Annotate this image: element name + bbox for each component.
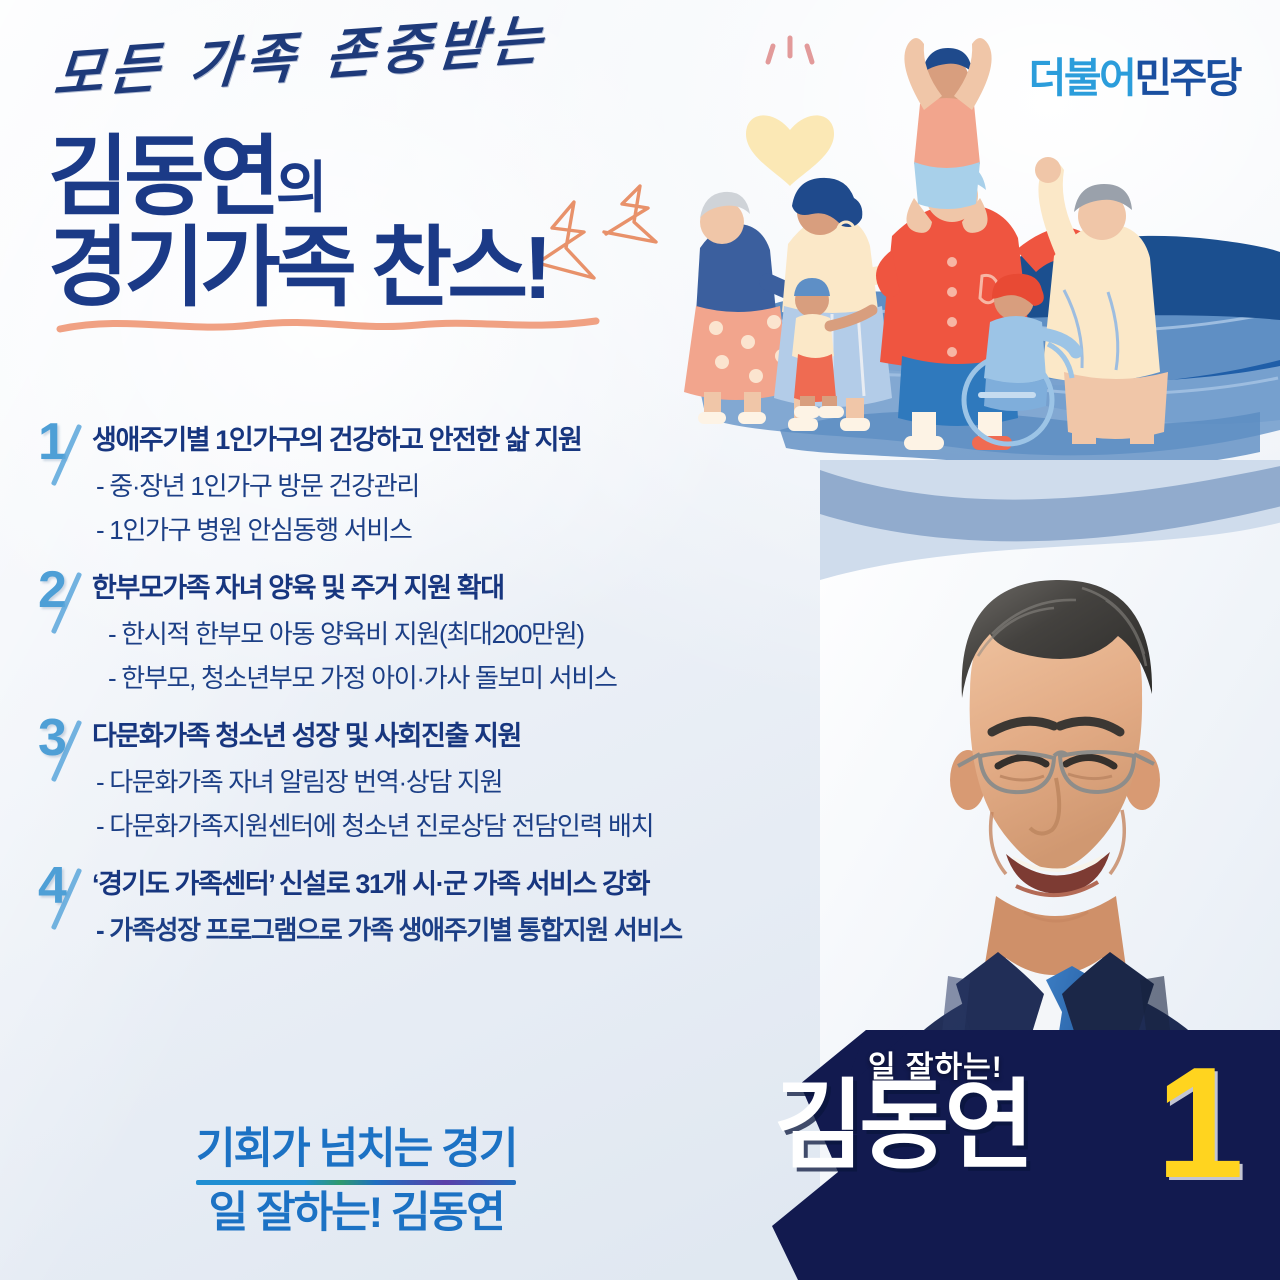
- headline-slogan: 경기가족 찬스!: [48, 225, 616, 311]
- policy-sub: - 다문화가족지원센터에 청소년 진로상담 전담인력 배치: [96, 811, 894, 842]
- campaign-poster: 더불어민주당 모든 가족 존중받는 김동연의 경기가족 찬스! 1 생애주기별 …: [0, 0, 1280, 1280]
- policy-title: 다문화가족 청소년 성장 및 사회진출 지원: [92, 720, 894, 754]
- party-logo: 더불어민주당: [1029, 44, 1240, 104]
- policy-sub: - 다문화가족 자녀 알림장 번역·상담 지원: [96, 767, 894, 798]
- slogan-line-2: 일 잘하는! 김동연: [196, 1189, 516, 1238]
- slogan-divider: [196, 1180, 516, 1185]
- candidate-name: 김동연: [48, 127, 276, 226]
- hand-tagline: 모든 가족 존중받는: [52, 7, 617, 103]
- candidate-name-line: 김동연의: [48, 136, 616, 219]
- slogan-line-1: 기회가 넘치는 경기: [196, 1125, 516, 1174]
- name-particle: 의: [276, 156, 325, 219]
- policy-sub: - 중·장년 1인가구 방문 건강관리: [96, 471, 894, 502]
- party-logo-dark: 민주당: [1134, 55, 1240, 101]
- policy-sub: - 한부모, 청소년부모 가정 아이·가사 돌보미 서비스: [108, 663, 894, 694]
- policy-title: ‘경기도 가족센터’ 신설로 31개 시·군 가족 서비스 강화: [92, 868, 894, 902]
- headline-block: 모든 가족 존중받는 김동연의 경기가족 찬스!: [42, 48, 616, 335]
- policy-number-badge: 2: [38, 568, 100, 644]
- policy-list: 1 생애주기별 1인가구의 건강하고 안전한 삶 지원 - 중·장년 1인가구 …: [34, 424, 894, 972]
- policy-item: 2 한부모가족 자녀 양육 및 주거 지원 확대 - 한시적 한부모 아동 양육…: [34, 572, 894, 694]
- name-plate: 일 잘하는! 김동연 1: [760, 1030, 1280, 1280]
- bottom-slogan: 기회가 넘치는 경기 일 잘하는! 김동연: [196, 1125, 516, 1238]
- policy-number-badge: 4: [38, 864, 100, 940]
- policy-sub: - 1인가구 병원 안심동행 서비스: [96, 515, 894, 546]
- policy-title: 한부모가족 자녀 양육 및 주거 지원 확대: [92, 572, 894, 606]
- policy-title: 생애주기별 1인가구의 건강하고 안전한 삶 지원: [92, 424, 894, 458]
- policy-sub: - 가족성장 프로그램으로 가족 생애주기별 통합지원 서비스: [96, 915, 894, 946]
- name-plate-name: 김동연: [774, 1076, 1029, 1174]
- policy-sub: - 한시적 한부모 아동 양육비 지원(최대200만원): [108, 619, 894, 650]
- party-logo-light: 더불어: [1029, 55, 1135, 101]
- candidate-number: 1: [1156, 1044, 1244, 1202]
- policy-item: 1 생애주기별 1인가구의 건강하고 안전한 삶 지원 - 중·장년 1인가구 …: [34, 424, 894, 546]
- policy-number-badge: 1: [38, 420, 100, 496]
- policy-item: 4 ‘경기도 가족센터’ 신설로 31개 시·군 가족 서비스 강화 - 가족성…: [34, 868, 894, 946]
- policy-number-badge: 3: [38, 716, 100, 792]
- policy-item: 3 다문화가족 청소년 성장 및 사회진출 지원 - 다문화가족 자녀 알림장 …: [34, 720, 894, 842]
